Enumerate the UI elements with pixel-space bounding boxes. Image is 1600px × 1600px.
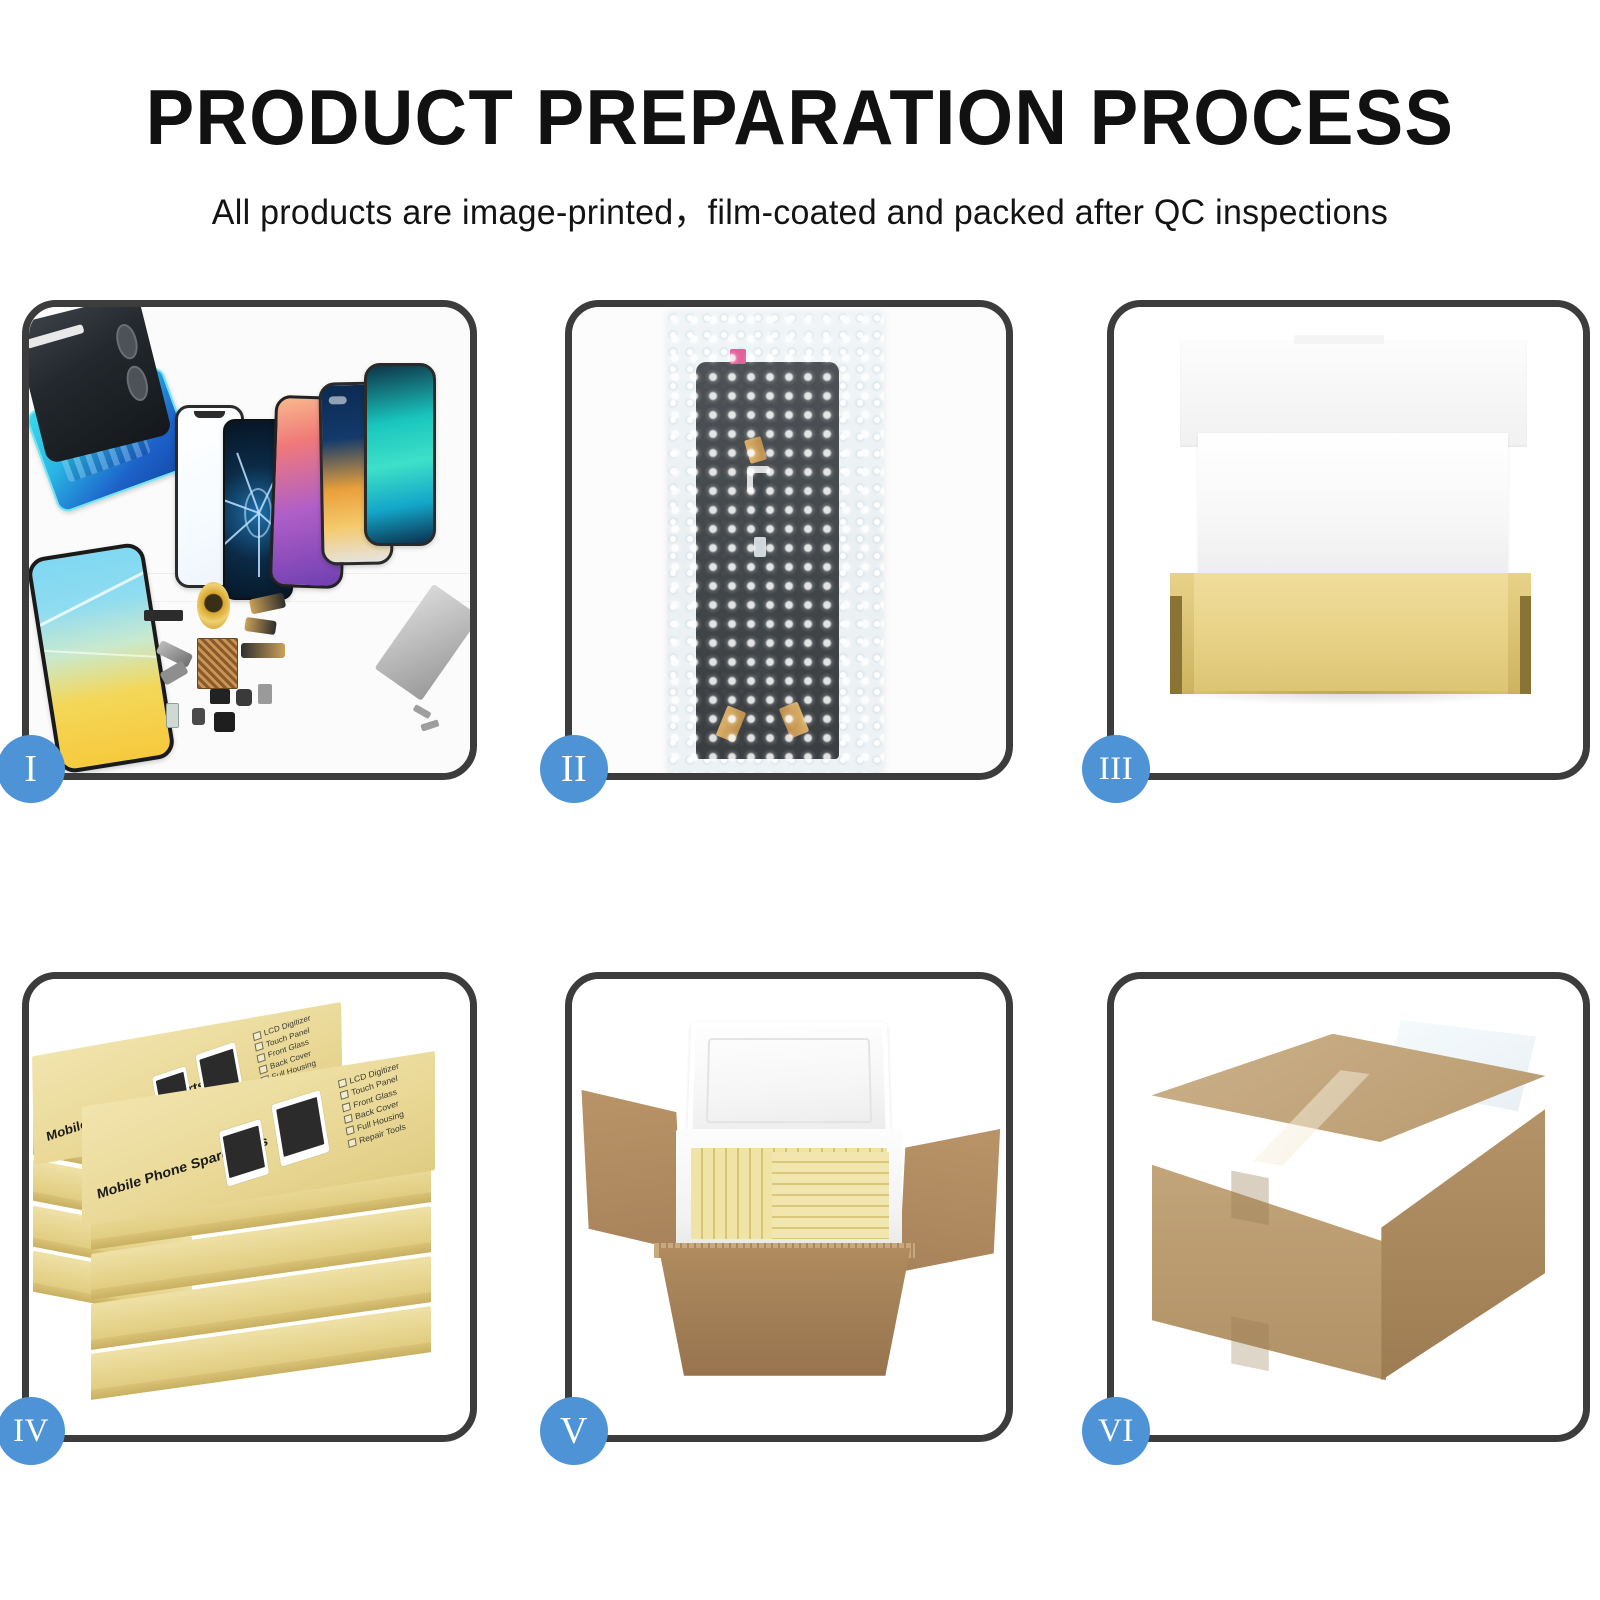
carton-seam [1231,1171,1269,1226]
parts-photo [29,307,470,773]
step-panel-2[interactable]: II [565,300,1013,780]
small-component [236,689,251,706]
flex-cable [241,643,285,659]
step-numeral: II [561,750,587,788]
checkbox-icon [348,1138,357,1148]
retail-box-stack: Mobile Phone Spare Parts LCD Digitizer T… [29,979,470,1435]
gold-connector [779,701,809,738]
screwdriver-tool [421,719,440,732]
teal-screen-phone [364,363,436,546]
step-numeral: I [24,750,37,788]
step-badge-5: V [540,1397,608,1465]
broken-screen-phone [29,541,177,773]
carton-flap-left [582,1090,684,1251]
lcd-screen-assembly [696,362,839,759]
box-lid [1180,340,1527,447]
gold-connector [744,436,767,464]
wireless-charging-coil [197,582,230,629]
page-subtitle: All products are image-printed，film-coat… [24,184,1576,235]
step-panel-6[interactable]: VI [1107,972,1590,1442]
box-checklist: LCD Digitizer Touch Panel Front Glass Ba… [338,1060,410,1150]
crack-line [258,513,260,577]
yellow-box-front [1170,573,1531,694]
step-4-image: Mobile Phone Spare Parts LCD Digitizer T… [29,979,470,1435]
housing-strip [29,324,84,349]
tweezers-tool [375,584,470,701]
step-badge-2: II [540,735,608,803]
step-numeral: VI [1098,1415,1134,1448]
ic-chip [197,638,239,689]
inner-box-photo [1114,307,1583,773]
process-step-grid: I II [0,0,1600,1600]
gold-connector [716,705,746,742]
step-3-image [1114,307,1583,773]
screen-thumbnail [219,1119,270,1187]
page-header: PRODUCT PREPARATION PROCESS All products… [0,0,1600,235]
notch [194,411,225,418]
step-badge-3: III [1082,735,1150,803]
small-component [210,689,230,704]
small-component [214,712,234,732]
step-numeral: V [560,1412,588,1450]
shipping-carton-open [572,979,1006,1435]
driver-chip [754,537,765,557]
step-panel-4[interactable]: Mobile Phone Spare Parts LCD Digitizer T… [22,972,477,1442]
ribbon-cable [753,473,770,679]
sealed-carton-photo [1114,979,1583,1435]
page-title: PRODUCT PREPARATION PROCESS [56,78,1544,156]
bubble-wrap-bag [667,312,884,773]
carton-right-face [1381,1098,1545,1381]
small-component [258,684,272,704]
small-component [192,708,205,725]
box-side-left [1170,596,1182,694]
camera-lens-icon [113,322,142,362]
carton-seam [1231,1316,1269,1371]
pink-qc-sticker [730,349,745,365]
flex-cable [144,610,184,621]
carton-body [659,1248,911,1376]
screen-thumbnail [271,1090,330,1167]
step-panel-1[interactable]: I [22,300,477,780]
screwdriver-tool [412,704,431,719]
step-badge-4: IV [0,1397,65,1465]
box-side-right [1520,596,1532,694]
box-shadow [1175,691,1527,705]
gold-boxes-row [772,1152,889,1239]
step-numeral: III [1099,753,1133,786]
step-2-image [572,307,1006,773]
step-panel-5[interactable]: V [565,972,1013,1442]
step-badge-6: VI [1082,1397,1150,1465]
step-numeral: IV [13,1415,49,1448]
step-1-image [29,307,470,773]
step-5-image [572,979,1006,1435]
sim-tray [166,703,179,728]
step-6-image [1114,979,1583,1435]
foam-sheet [1198,433,1508,591]
step-panel-3[interactable]: III [1107,300,1590,780]
flex-cable [244,617,277,635]
foam-lid [687,1022,891,1144]
camera-lens-icon [123,364,152,404]
carton-left-face [1152,1129,1387,1380]
step-badge-1: I [0,735,65,803]
crack-highlight [33,563,162,631]
